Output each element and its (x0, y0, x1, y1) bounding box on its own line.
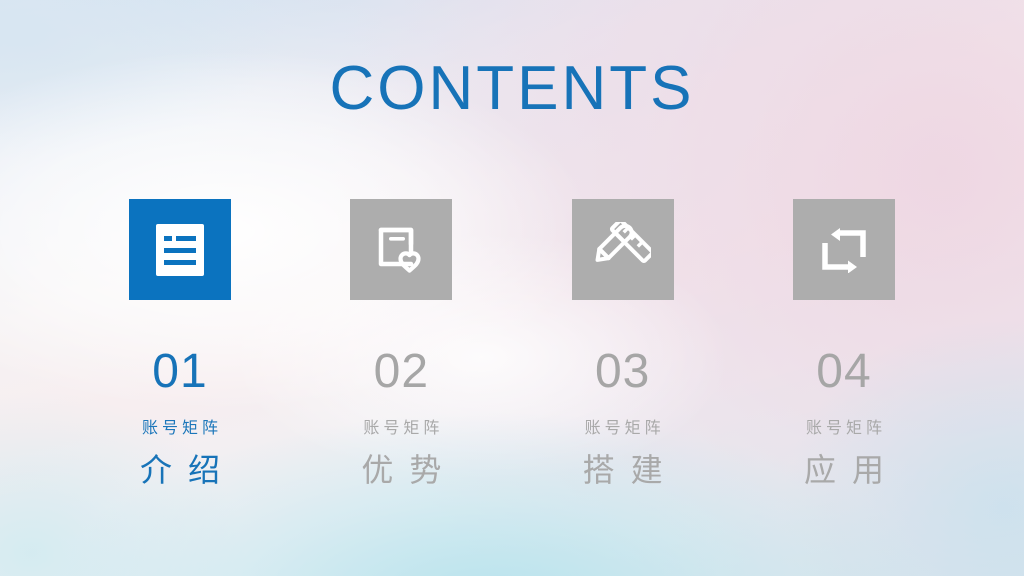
page-title: CONTENTS (0, 58, 1024, 120)
icon-box-03[interactable] (572, 199, 674, 300)
pencil-ruler-icon (595, 222, 651, 278)
icon-box-04[interactable] (793, 199, 895, 300)
icon-box-01[interactable] (129, 199, 231, 300)
content-item-01[interactable]: 01 账号矩阵 介绍 (95, 199, 265, 486)
item-number-02: 02 (374, 348, 429, 396)
item-number-03: 03 (595, 348, 650, 396)
item-subtitle-04: 账号矩阵 (802, 420, 886, 436)
item-subtitle-02: 账号矩阵 (359, 420, 443, 436)
icon-box-02[interactable] (350, 199, 452, 300)
repeat-loop-icon (819, 227, 869, 273)
document-lines-icon (156, 224, 204, 276)
item-label-03: 搭建 (567, 454, 679, 486)
item-label-02: 优势 (345, 454, 457, 486)
content-item-04[interactable]: 04 账号矩阵 应用 (759, 199, 929, 486)
item-subtitle-03: 账号矩阵 (581, 420, 665, 436)
item-subtitle-01: 账号矩阵 (138, 420, 222, 436)
item-label-01: 介绍 (124, 454, 236, 486)
item-label-04: 应用 (788, 454, 900, 486)
content-item-03[interactable]: 03 账号矩阵 搭建 (538, 199, 708, 486)
item-number-01: 01 (152, 348, 207, 396)
contents-columns: 01 账号矩阵 介绍 02 账号矩阵 优势 (95, 199, 929, 486)
document-heart-icon (375, 224, 427, 276)
content-item-02[interactable]: 02 账号矩阵 优势 (316, 199, 486, 486)
contents-slide: CONTENTS 01 账号矩阵 介绍 (0, 0, 1024, 576)
item-number-04: 04 (816, 348, 871, 396)
